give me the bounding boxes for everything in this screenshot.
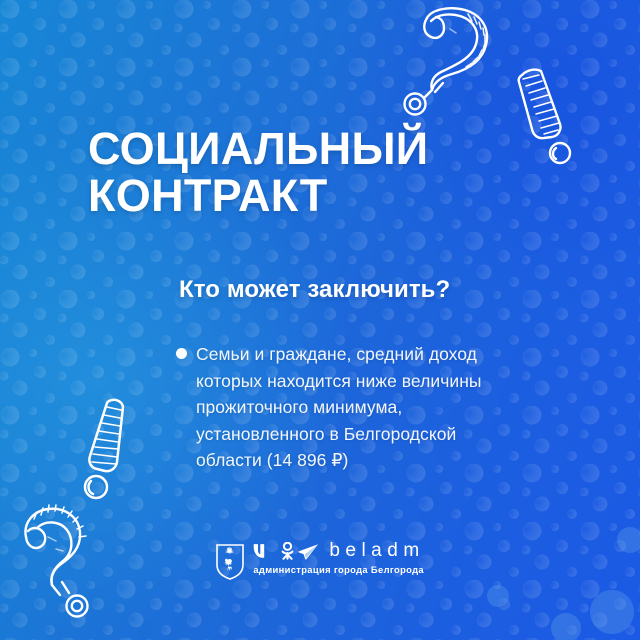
logo-text-block: beladm администрация города Белгорода: [253, 536, 424, 576]
telegram-icon[interactable]: [298, 543, 319, 560]
poster-canvas: СОЦИАЛЬНЫЙ КОНТРАКТ Кто может заключить?…: [0, 0, 640, 640]
list-item: Семьи и граждане, средний доход которых …: [176, 341, 556, 474]
bullet-dot-icon: [176, 348, 187, 359]
logo-lockup[interactable]: beladm администрация города Белгорода: [0, 536, 640, 580]
logo-wordmark: beladm: [329, 541, 424, 561]
section-subtitle: Кто может заключить?: [179, 276, 599, 304]
vk-icon[interactable]: [253, 543, 277, 559]
logo-social-row: beladm: [253, 540, 424, 562]
logo-subtitle: администрация города Белгорода: [253, 564, 424, 576]
list-item-text: Семьи и граждане, средний доход которых …: [196, 341, 482, 474]
page-title: СОЦИАЛЬНЫЙ КОНТРАКТ: [88, 125, 548, 219]
ok-icon[interactable]: [281, 542, 294, 560]
belgorod-coat-of-arms-icon: [215, 536, 245, 580]
